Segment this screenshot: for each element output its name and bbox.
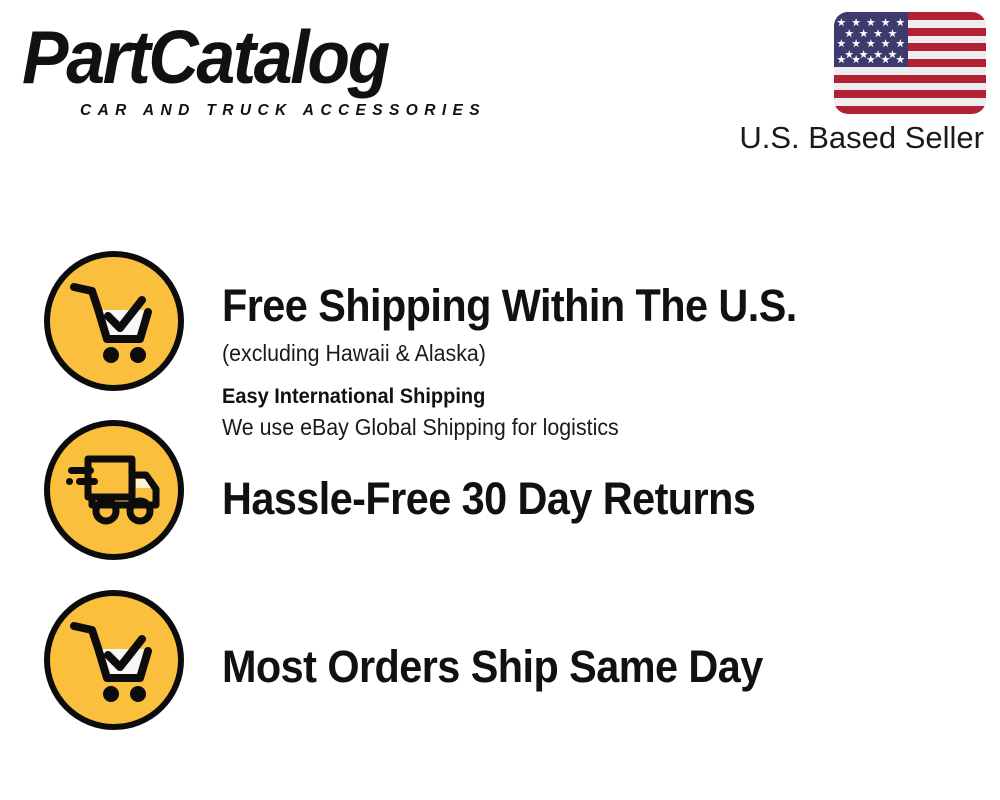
- feature-text-block: Hassle-Free 30 Day Returns: [222, 474, 980, 524]
- us-based-seller-block: U.S. Based Seller: [686, 12, 986, 162]
- shipping-info-banner: PartCatalog CAR AND TRUCK ACCESSORIES: [0, 0, 1000, 800]
- feature-text-block: Most Orders Ship Same Day: [222, 642, 980, 692]
- brand-wordmark: PartCatalog: [22, 18, 388, 96]
- feature-headline: Most Orders Ship Same Day: [222, 642, 919, 692]
- partcatalog-logo: PartCatalog CAR AND TRUCK ACCESSORIES: [22, 18, 492, 118]
- banner-header: PartCatalog CAR AND TRUCK ACCESSORIES: [0, 0, 1000, 175]
- feature-list: Free Shipping Within The U.S. (excluding…: [0, 180, 1000, 780]
- feature-row: Hassle-Free 30 Day Returns: [0, 410, 1000, 585]
- shopping-cart-check-icon: [44, 251, 184, 391]
- feature-subhead: Easy International Shipping: [222, 382, 927, 410]
- us-flag-icon: [834, 12, 986, 114]
- flag-canton: [834, 12, 908, 67]
- us-based-seller-label: U.S. Based Seller: [739, 120, 984, 156]
- feature-subline: (excluding Hawaii & Alaska): [222, 338, 927, 368]
- feature-row: Most Orders Ship Same Day: [0, 580, 1000, 755]
- shopping-cart-check-icon: [44, 590, 184, 730]
- delivery-truck-icon: [44, 420, 184, 560]
- feature-headline: Hassle-Free 30 Day Returns: [222, 474, 919, 524]
- brand-tagline: CAR AND TRUCK ACCESSORIES: [80, 102, 486, 120]
- feature-row: Free Shipping Within The U.S. (excluding…: [0, 235, 1000, 415]
- feature-headline: Free Shipping Within The U.S.: [222, 281, 919, 331]
